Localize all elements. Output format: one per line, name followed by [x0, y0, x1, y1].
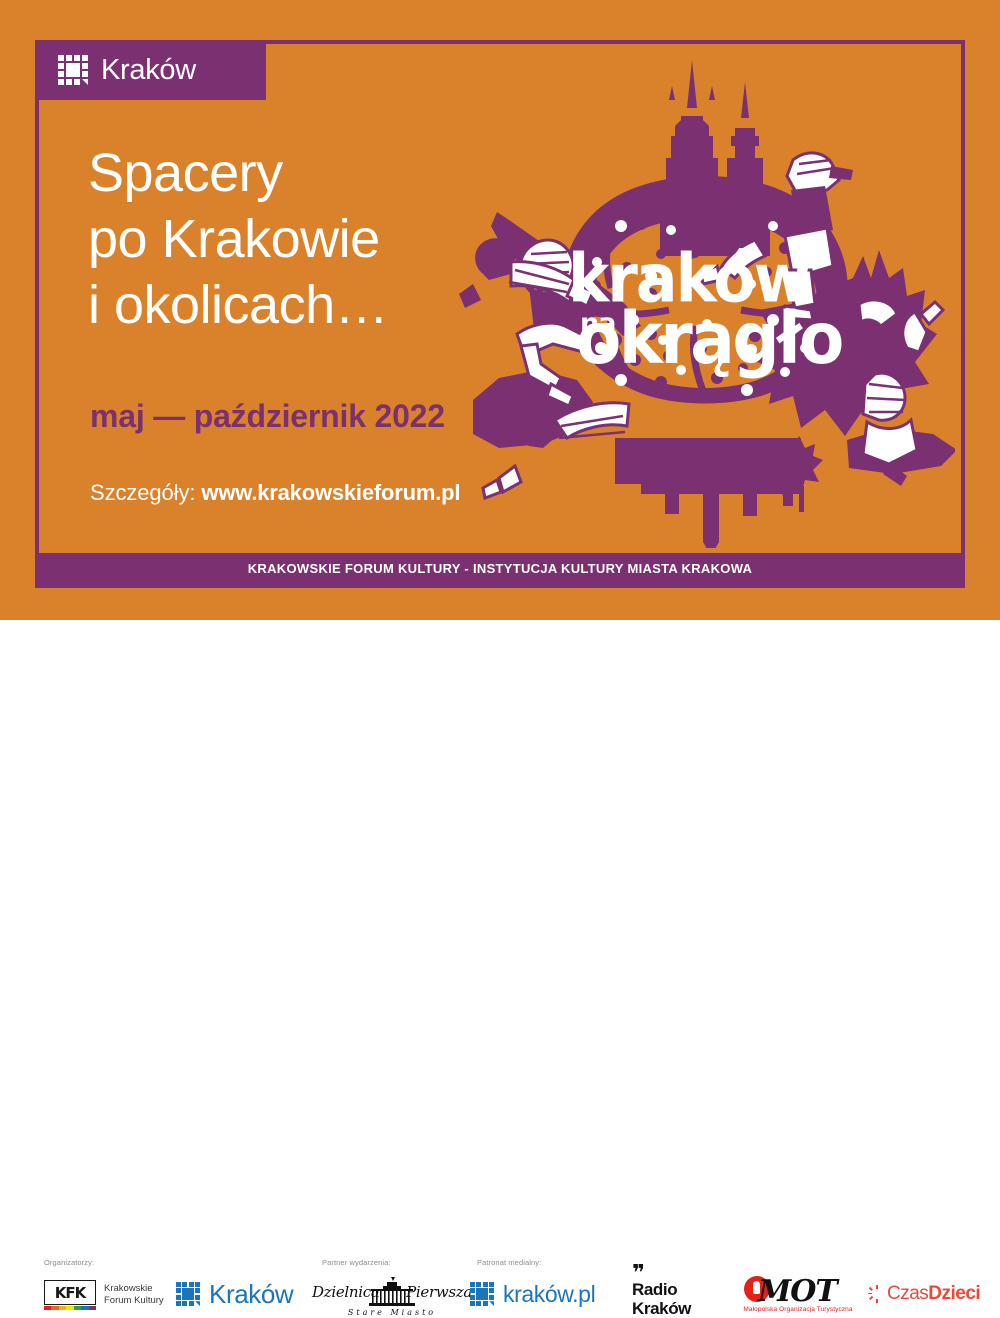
headline-line-2: po Krakowie: [88, 206, 388, 272]
logo-krakow-pl[interactable]: kraków.pl: [470, 1282, 595, 1306]
poster-details-line: Szczegóły: www.krakowskieforum.pl: [90, 480, 460, 506]
poster-date-range: maj — październik 2022: [90, 398, 445, 435]
logo-kfk[interactable]: KFK Krakowskie Forum Kultury: [44, 1280, 96, 1310]
krakow-tiles-icon: [58, 55, 88, 85]
radio-line1: Radio: [632, 1280, 691, 1299]
dzielnica-right-word: Pierwsza: [406, 1283, 472, 1301]
kfk-mark: KFK: [44, 1280, 96, 1305]
obwarzanek-illustration: [455, 48, 955, 548]
radio-quote-icon: ❞: [632, 1270, 691, 1280]
krakow-wordmark: Kraków: [101, 56, 196, 85]
logo-czasdzieci[interactable]: CzasDzieci: [868, 1284, 980, 1303]
sponsor-footer: Organizatorzy: Partner wydarzenia: Patro…: [0, 620, 1000, 714]
czasdzieci-wordmark: CzasDzieci: [887, 1284, 980, 1303]
details-url[interactable]: www.krakowskieforum.pl: [201, 480, 460, 505]
krakow-brand-badge: Kraków: [35, 40, 266, 100]
headline-line-3: i okolicach…: [88, 272, 388, 338]
krakow-city-wordmark: Kraków: [209, 1281, 293, 1307]
czasdzieci-part2: Dzieci: [928, 1283, 980, 1304]
footer-label-partner: Partner wydarzenia:: [322, 1258, 391, 1267]
czasdzieci-part1: Czas: [887, 1283, 928, 1304]
logo-krakow-city[interactable]: Kraków: [176, 1281, 293, 1307]
logo-dzielnica[interactable]: Dzielnica Pierwsza Stare Miasto: [312, 1277, 472, 1317]
poster-headline: Spacery po Krakowie i okolicach…: [88, 140, 388, 338]
krakow-tiles-icon-pl: [470, 1282, 494, 1306]
institution-bar: KRAKOWSKIE FORUM KULTURY - INSTYTUCJA KU…: [39, 553, 961, 584]
kfk-color-strip: [44, 1306, 96, 1310]
poster-canvas: kraków okrągło na Kraków Spacery po Krak…: [0, 0, 1000, 714]
kfk-name-line1: Krakowskie: [104, 1283, 164, 1295]
institution-bar-text: KRAKOWSKIE FORUM KULTURY - INSTYTUCJA KU…: [248, 561, 753, 576]
krakow-tiles-icon-blue: [176, 1282, 200, 1306]
headline-line-1: Spacery: [88, 140, 388, 206]
kfk-name: Krakowskie Forum Kultury: [104, 1283, 164, 1307]
logo-radio-krakow[interactable]: ❞ Radio Kraków: [632, 1270, 691, 1318]
dzielnica-subtitle: Stare Miasto: [312, 1308, 472, 1317]
kfk-name-line2: Forum Kultury: [104, 1295, 164, 1307]
dzielnica-building-icon: [369, 1277, 415, 1307]
krakow-pl-wordmark: kraków.pl: [503, 1283, 595, 1306]
mot-subtitle: Małopolska Organizacja Turystyczna: [734, 1306, 862, 1313]
details-label: Szczegóły:: [90, 480, 195, 505]
radio-line2: Kraków: [632, 1299, 691, 1318]
sun-icon: [868, 1285, 886, 1303]
mot-mark: MOT: [758, 1274, 837, 1309]
logo-mot[interactable]: MOT Małopolska Organizacja Turystyczna: [734, 1275, 862, 1317]
footer-label-organizatorzy: Organizatorzy:: [44, 1258, 94, 1267]
footer-label-patronat: Patronat medialny:: [477, 1258, 541, 1267]
